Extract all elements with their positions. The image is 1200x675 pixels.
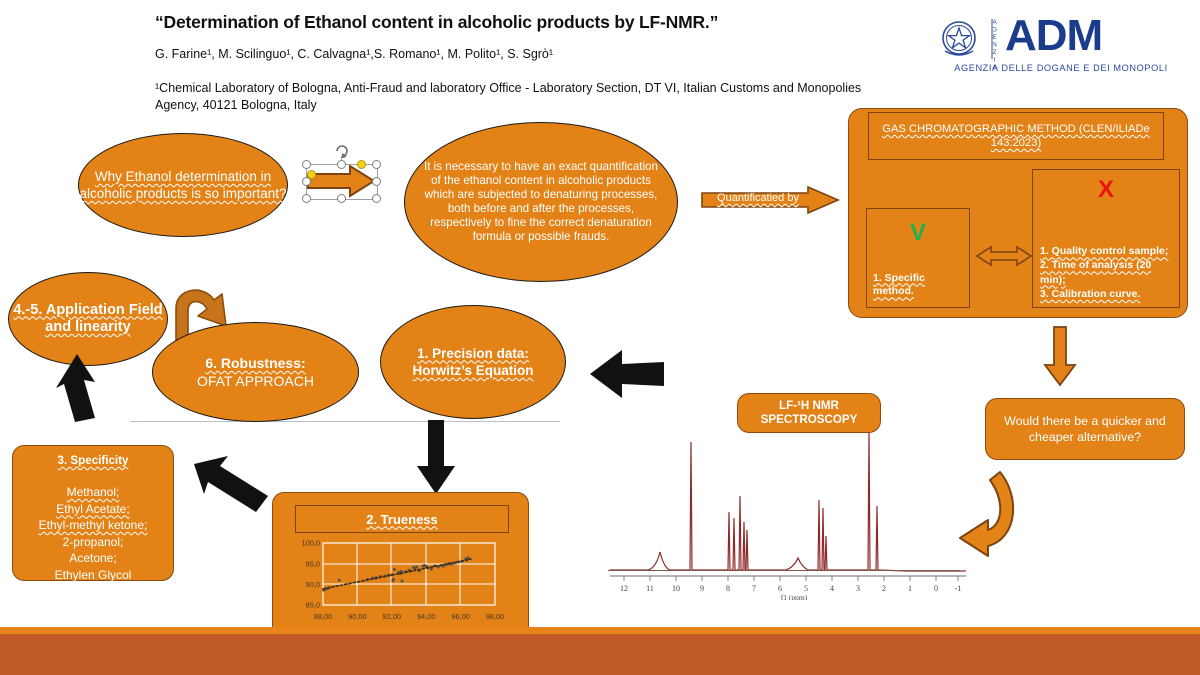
check-mark-icon: V xyxy=(867,219,969,247)
svg-text:1: 1 xyxy=(908,584,912,593)
why-ethanol-ellipse: Why Ethanol determination in alcoholic p… xyxy=(78,133,288,237)
y-tick-label: 90,0 xyxy=(306,580,320,589)
svg-text:4: 4 xyxy=(830,584,834,593)
nmr-trace xyxy=(610,430,966,571)
svg-text:8: 8 xyxy=(726,584,730,593)
footer-band-top xyxy=(0,627,1200,634)
page-title: “Determination of Ethanol content in alc… xyxy=(155,12,935,33)
horizontal-rule xyxy=(130,421,560,422)
trueness-box: 2. Trueness 85,090,095,0100,0 88,0090,00… xyxy=(272,492,529,642)
chart-gridlines xyxy=(323,543,495,605)
footer-band-bottom xyxy=(0,634,1200,675)
arrow-down-icon xyxy=(1043,325,1077,387)
adjust-handle-arrowhead[interactable] xyxy=(357,160,366,169)
author-list: G. Farine¹, M. Scilinguo¹, C. Calvagna¹,… xyxy=(155,47,915,61)
gc-method-title-text: GAS CHROMATOGRAPHIC METHOD (CLEN/ILIADe … xyxy=(875,122,1157,150)
logo-acronym: ADM xyxy=(1005,13,1102,59)
y-tick-label: 95,0 xyxy=(306,559,320,568)
gc-disadvantages-text: 1. Quality control sample; 2. Time of an… xyxy=(1040,244,1176,301)
list-item: Acetone; xyxy=(13,550,173,567)
affiliation-line-1: ¹Chemical Laboratory of Bologna, Anti-Fr… xyxy=(155,81,717,95)
list-item: Ethyl-methyl ketone; xyxy=(13,517,173,534)
resize-handle-s[interactable] xyxy=(337,194,346,203)
svg-text:0: 0 xyxy=(934,584,938,593)
data-point xyxy=(392,578,395,581)
chart-plot-area xyxy=(322,543,495,605)
arrow-left-black-icon xyxy=(588,348,666,400)
arrow-upleft-black-icon xyxy=(192,452,270,514)
robustness-text: 6. Robustness: OFAT APPROACH xyxy=(197,354,314,390)
adjust-handle-shaft[interactable] xyxy=(307,170,316,179)
trueness-title-text: 2. Trueness xyxy=(366,512,438,527)
specificity-title: 3. Specificity xyxy=(13,454,173,467)
specificity-box: 3. Specificity Methanol; Ethyl Acetate; … xyxy=(12,445,174,581)
nmr-axis-ticks xyxy=(624,576,958,581)
double-arrow-icon xyxy=(975,243,1033,269)
x-tick-label: 96,00 xyxy=(451,612,470,621)
robustness-line-2: OFAT APPROACH xyxy=(197,373,314,389)
svg-text:6: 6 xyxy=(778,584,782,593)
data-point xyxy=(430,568,433,571)
svg-text:7: 7 xyxy=(752,584,756,593)
gc-advantages-text: 1. Specific method. xyxy=(873,272,965,299)
chart-x-tick-labels: 88,0090,0092,0094,0096,0098,00 xyxy=(314,612,505,621)
specificity-list: Methanol; Ethyl Acetate; Ethyl-methyl ke… xyxy=(13,484,173,583)
data-point xyxy=(415,565,418,568)
list-item: 2-propanol; xyxy=(13,534,173,551)
resize-handle-sw[interactable] xyxy=(302,194,311,203)
nmr-tick-labels: 1211 109 87 65 43 21 0-1 xyxy=(620,584,961,593)
trueness-title: 2. Trueness xyxy=(295,505,509,533)
svg-text:-1: -1 xyxy=(955,584,962,593)
adm-logo: AGENZIA ADM AGENZIA DELLE DOGANE E DEI M… xyxy=(935,15,1185,77)
list-item: Methanol; xyxy=(13,484,173,501)
data-point xyxy=(401,580,404,583)
trueness-scatter-chart: 85,090,095,0100,0 88,0090,0092,0094,0096… xyxy=(281,537,521,633)
application-field-text: 4.-5. Application Field and linearity xyxy=(9,302,167,337)
y-tick-label: 85,0 xyxy=(306,601,320,610)
resize-handle-ne[interactable] xyxy=(372,160,381,169)
why-ethanol-text: Why Ethanol determination in alcoholic p… xyxy=(79,168,287,202)
arrow-down-black-icon xyxy=(415,418,457,496)
x-tick-label: 92,00 xyxy=(383,612,402,621)
robustness-ellipse: 6. Robustness: OFAT APPROACH xyxy=(152,322,359,422)
list-item: Ethyl Acetate; xyxy=(13,501,173,518)
svg-text:5: 5 xyxy=(804,584,808,593)
resize-handle-nw[interactable] xyxy=(302,160,311,169)
x-tick-label: 98,00 xyxy=(486,612,505,621)
cross-mark-icon: X xyxy=(1033,176,1179,204)
precision-text: 1. Precision data: Horwitz’s Equation xyxy=(381,345,565,380)
y-tick-label: 100,0 xyxy=(302,539,321,548)
resize-handle-e[interactable] xyxy=(372,177,381,186)
precision-ellipse: 1. Precision data: Horwitz’s Equation xyxy=(380,305,566,419)
rotate-handle-icon[interactable] xyxy=(334,142,350,158)
nmr-label-text: LF-¹H NMR SPECTROSCOPY xyxy=(738,399,880,428)
italian-republic-emblem-icon xyxy=(935,17,983,63)
data-point xyxy=(393,568,396,571)
affiliation: ¹Chemical Laboratory of Bologna, Anti-Fr… xyxy=(155,80,875,114)
selected-arrow-shape[interactable] xyxy=(296,142,394,218)
robustness-line-1: 6. Robustness: xyxy=(205,355,305,371)
nmr-axis-label: f1 (ppm) xyxy=(781,593,808,600)
svg-text:3: 3 xyxy=(856,584,860,593)
necessity-ellipse: It is necessary to have an exact quantif… xyxy=(404,122,678,282)
resize-handle-n[interactable] xyxy=(337,160,346,169)
slide-canvas: “Determination of Ethanol content in alc… xyxy=(0,0,1200,675)
gc-advantages-box: V 1. Specific method. xyxy=(866,208,970,308)
svg-text:10: 10 xyxy=(672,584,680,593)
x-tick-label: 88,00 xyxy=(314,612,333,621)
x-tick-label: 90,00 xyxy=(348,612,367,621)
resize-handle-se[interactable] xyxy=(372,194,381,203)
logo-subtitle: AGENZIA DELLE DOGANE E DEI MONOPOLI xyxy=(937,63,1185,73)
list-item: Ethylen Glycol xyxy=(13,567,173,584)
alternative-question-box: Would there be a quicker and cheaper alt… xyxy=(985,398,1185,460)
svg-text:12: 12 xyxy=(620,584,628,593)
x-tick-label: 94,00 xyxy=(417,612,436,621)
svg-text:11: 11 xyxy=(646,584,654,593)
nmr-spectroscopy-label: LF-¹H NMR SPECTROSCOPY xyxy=(737,393,881,433)
data-point xyxy=(338,579,341,582)
nmr-baseline-rule xyxy=(608,570,960,571)
logo-divider xyxy=(991,19,993,59)
alternative-question-text: Would there be a quicker and cheaper alt… xyxy=(996,413,1174,445)
arrow-up-black-icon xyxy=(55,352,101,422)
necessity-text: It is necessary to have an exact quantif… xyxy=(405,160,677,245)
gc-disadvantages-box: X 1. Quality control sample; 2. Time of … xyxy=(1032,169,1180,308)
gc-method-title: GAS CHROMATOGRAPHIC METHOD (CLEN/ILIADe … xyxy=(868,112,1164,160)
svg-text:2: 2 xyxy=(882,584,886,593)
chart-y-tick-labels: 85,090,095,0100,0 xyxy=(302,539,321,610)
quantified-by-label: Quantificatied by xyxy=(706,192,810,204)
svg-text:9: 9 xyxy=(700,584,704,593)
quantified-by-arrow: Quantificatied by xyxy=(700,185,840,215)
